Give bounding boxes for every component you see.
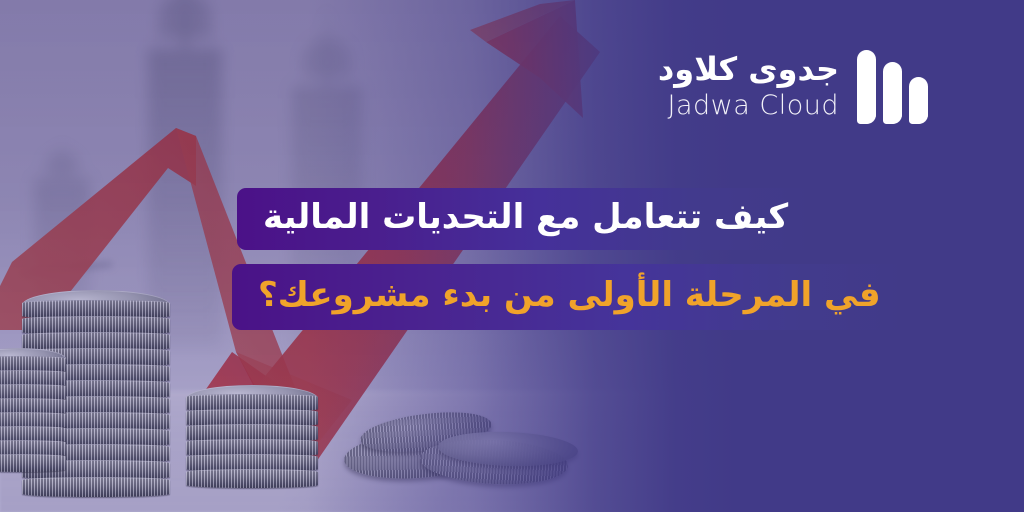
brand-name-arabic: جدوى كلاود: [658, 53, 839, 85]
headline-line-1: كيف تتعامل مع التحديات المالية: [237, 188, 818, 250]
brand-name-english: Jadwa Cloud: [668, 92, 839, 119]
headline-block: كيف تتعامل مع التحديات المالية في المرحل…: [232, 188, 1024, 330]
brand-logo[interactable]: جدوى كلاود Jadwa Cloud: [658, 48, 928, 124]
brand-wordmark: جدوى كلاود Jadwa Cloud: [658, 53, 839, 119]
promo-banner: جدوى كلاود Jadwa Cloud كيف تتعامل مع الت…: [0, 0, 1024, 512]
three-lam-strokes-logo-icon: [857, 48, 928, 124]
headline-line-2: في المرحلة الأولى من بدء مشروعك؟: [232, 264, 911, 330]
